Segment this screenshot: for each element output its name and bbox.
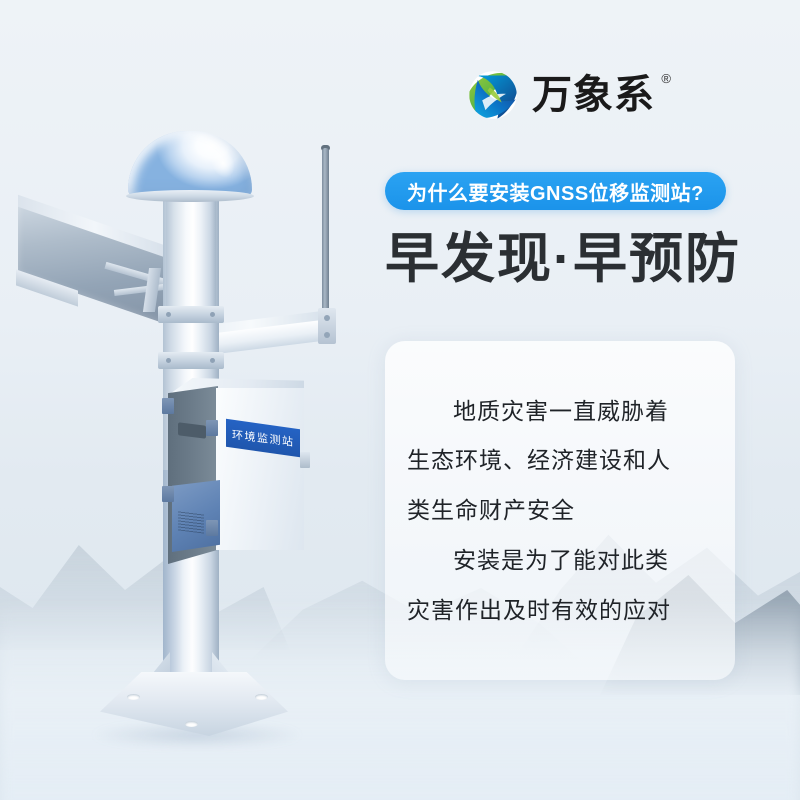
pole-collar-lower (158, 352, 224, 369)
enclosure-grille (178, 510, 204, 533)
pole-collar-upper (158, 306, 224, 323)
cross-arm-bracket (318, 308, 336, 344)
collar-bolt-left-2 (166, 358, 171, 363)
globe-swirl-icon (466, 68, 520, 122)
cross-arm-bolt-upper (324, 315, 330, 321)
enclosure-hinge-bottom (206, 520, 218, 536)
registered-trademark-icon: ® (661, 72, 672, 85)
brand-name: 万象系 ® (532, 75, 655, 115)
enclosure-front-panel (216, 388, 304, 550)
description-line-4: 安装是为了能对此类 (407, 546, 713, 575)
description-card: 地质灾害一直威胁着 生态环境、经济建设和人 类生命财产安全 安装是为了能对此类 … (385, 341, 735, 680)
poster-canvas: 环境监测站 (0, 0, 800, 800)
collar-bolt-left (166, 312, 171, 317)
monitoring-station-illustration: 环境监测站 (0, 0, 400, 800)
page-title: 早发现·早预防 (385, 228, 741, 290)
cross-arm-bolt-lower (324, 332, 330, 338)
description-line-3: 类生命财产安全 (407, 496, 713, 525)
description-line-1: 地质灾害一直威胁着 (407, 397, 713, 426)
dome-base-rim (126, 190, 254, 202)
collar-bolt-right (210, 312, 215, 317)
description-line-2: 生态环境、经济建设和人 (407, 446, 713, 475)
support-pole-upper (166, 196, 216, 316)
question-badge: 为什么要安装GNSS位移监测站? (385, 172, 726, 210)
enclosure-latch (300, 452, 310, 468)
collar-bolt-right-2 (210, 358, 215, 363)
enclosure-hinge-top (206, 420, 218, 436)
whip-antenna-rod (322, 148, 329, 318)
enclosure-label-text: 环境监测站 (232, 426, 295, 450)
enclosure-clip-top (162, 398, 174, 414)
description-line-5: 灾害作出及时有效的应对 (407, 596, 713, 625)
base-bolt-hole-1 (127, 694, 140, 700)
enclosure-clip-mid (162, 486, 174, 502)
base-bolt-hole-3 (185, 721, 198, 727)
brand-logo: 万象系 ® (466, 68, 655, 122)
base-bolt-hole-2 (255, 694, 268, 700)
brand-name-text: 万象系 (532, 73, 655, 117)
